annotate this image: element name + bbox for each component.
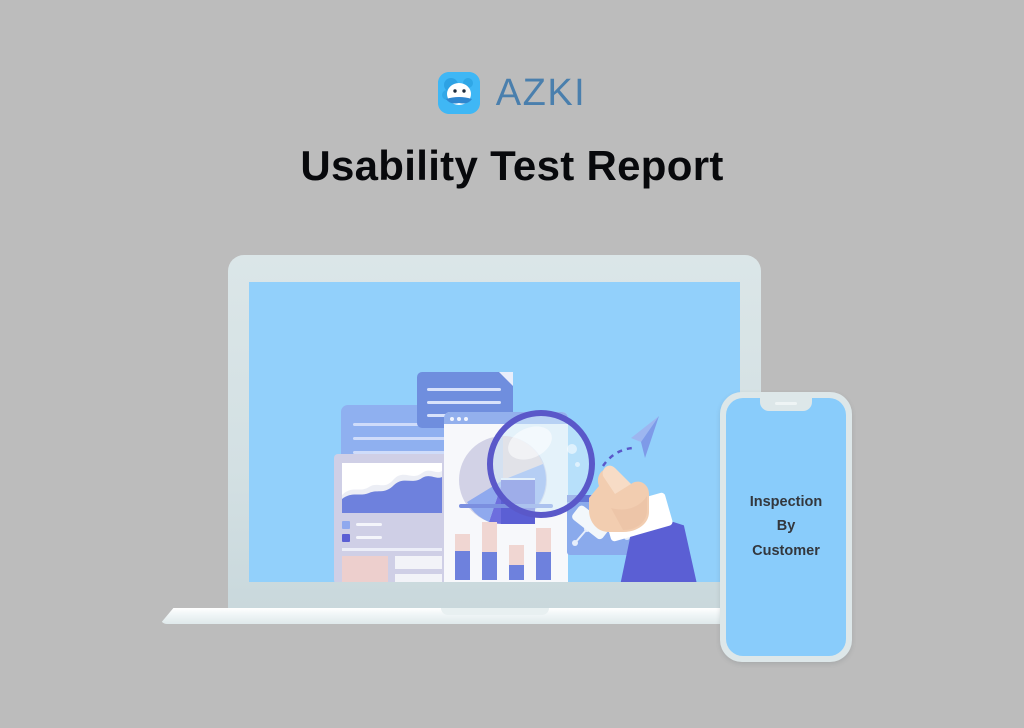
bar-segment-upper: [509, 545, 524, 565]
window-dot: [464, 417, 468, 421]
brand-row: AZKI: [0, 72, 1024, 114]
gray-bar: [395, 574, 442, 582]
phone-screen: Inspection By Customer: [726, 398, 846, 656]
page-title: Usability Test Report: [0, 142, 1024, 190]
bar-group: [509, 545, 524, 580]
phone-mockup: Inspection By Customer: [720, 392, 852, 662]
bar-segment-lower: [455, 551, 470, 580]
window-dot: [457, 417, 461, 421]
slide-canvas: AZKI Usability Test Report: [0, 0, 1024, 728]
laptop-mockup: [228, 255, 761, 620]
bar-segment-upper: [482, 522, 497, 552]
area-chart: [342, 463, 442, 513]
magnifier-gloss: [503, 420, 557, 466]
legend-swatch: [342, 521, 350, 529]
azki-mascot-icon: [438, 72, 480, 114]
bar-segment-lower: [482, 552, 497, 580]
legend-swatch: [342, 534, 350, 542]
phone-speaker: [775, 402, 797, 405]
laptop-base-notch: [441, 608, 549, 615]
bubble-text-line: [353, 437, 445, 440]
gray-bar: [395, 556, 442, 569]
bar-group: [536, 528, 551, 580]
bar-segment-upper: [536, 528, 551, 552]
bubble-text-line: [427, 388, 501, 391]
phone-text-line-2: By: [777, 518, 796, 535]
hand-icon: [579, 450, 663, 532]
bar-group: [455, 534, 470, 580]
magnifier-gloss: [567, 444, 577, 454]
bar-segment-lower: [536, 552, 551, 580]
laptop-screen: [249, 282, 740, 582]
bar-segment-lower: [509, 565, 524, 580]
phone-text-line-1: Inspection: [750, 494, 823, 511]
bar-segment-upper: [455, 534, 470, 551]
bubble-text-line: [427, 401, 501, 404]
legend-line: [356, 536, 382, 539]
azki-wordmark: AZKI: [496, 74, 586, 112]
pink-block: [342, 556, 388, 582]
window-dot: [450, 417, 454, 421]
bar-group: [482, 522, 497, 580]
bar-chart: [455, 518, 555, 580]
phone-text-line-3: Customer: [752, 543, 820, 560]
data-analysis-illustration: [249, 282, 740, 582]
legend-line: [356, 523, 382, 526]
card-divider: [342, 548, 442, 551]
